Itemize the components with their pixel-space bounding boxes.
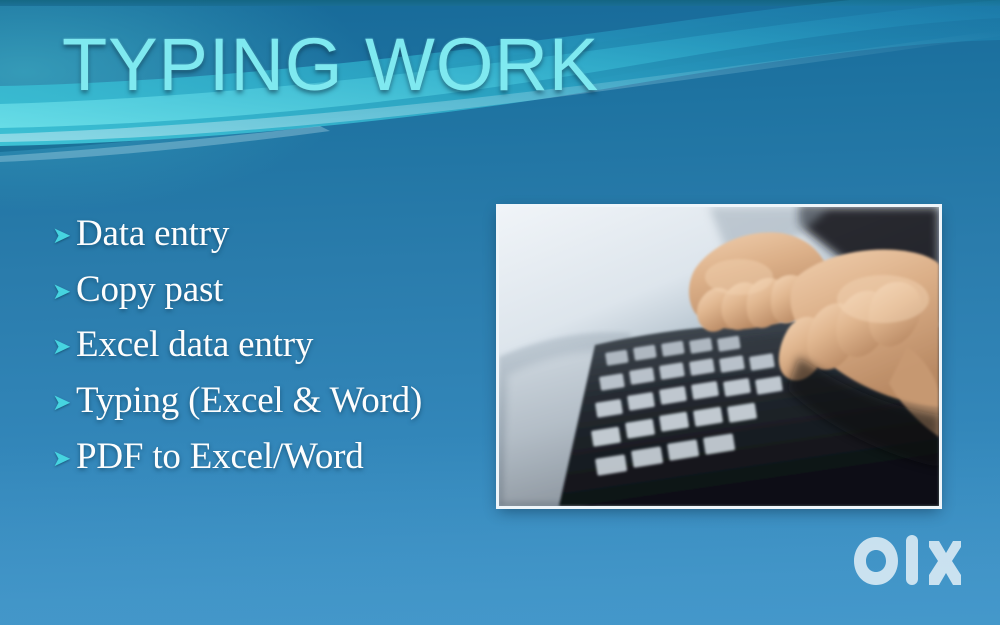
list-item-label: PDF to Excel/Word [76, 435, 364, 479]
list-item-label: Typing (Excel & Word) [76, 379, 422, 423]
typing-hands-photo [499, 207, 939, 506]
list-item-label: Data entry [76, 212, 229, 256]
service-list: ➤ Data entry ➤ Copy past ➤ Excel data en… [52, 212, 482, 478]
arrow-bullet-icon: ➤ [52, 335, 76, 358]
list-item: ➤ Typing (Excel & Word) [52, 379, 482, 423]
arrow-bullet-icon: ➤ [52, 224, 76, 247]
arrow-bullet-icon: ➤ [52, 391, 76, 414]
list-item-label: Copy past [76, 268, 223, 312]
slide-title: TYPING WORK [62, 28, 599, 102]
list-item-label: Excel data entry [76, 323, 313, 367]
olx-watermark [851, 531, 961, 597]
photo-frame [499, 207, 939, 506]
list-item: ➤ Data entry [52, 212, 482, 256]
background-top-strip [0, 0, 1000, 6]
list-item: ➤ PDF to Excel/Word [52, 435, 482, 479]
list-item: ➤ Copy past [52, 268, 482, 312]
arrow-bullet-icon: ➤ [52, 447, 76, 470]
arrow-bullet-icon: ➤ [52, 280, 76, 303]
list-item: ➤ Excel data entry [52, 323, 482, 367]
presentation-slide: TYPING WORK ➤ Data entry ➤ Copy past ➤ E… [0, 0, 1000, 625]
